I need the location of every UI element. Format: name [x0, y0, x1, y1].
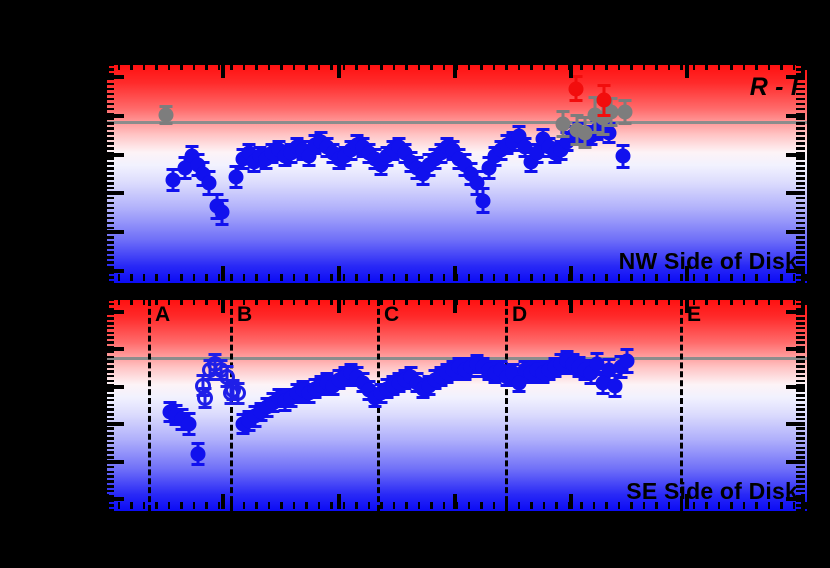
error-bar-cap	[513, 390, 526, 393]
panel-se-corner-label: SE Side of Disk	[626, 478, 798, 505]
error-bar-cap	[619, 99, 632, 102]
region-label-b: B	[237, 303, 252, 327]
error-bar-cap	[303, 401, 316, 404]
axis-label-r-minus-i: R - I	[750, 73, 798, 102]
error-bar-cap	[224, 402, 237, 405]
error-bar-cap	[549, 161, 562, 164]
error-bar-cap	[196, 161, 209, 164]
marker-filled-circle	[166, 172, 181, 187]
error-bar-cap	[339, 164, 352, 167]
error-bar-cap	[381, 396, 394, 399]
error-bar-cap	[308, 396, 321, 399]
marker-filled-circle	[475, 193, 490, 208]
error-bar-cap	[170, 404, 183, 407]
error-bar-cap	[369, 405, 382, 408]
error-bar-cap	[237, 432, 250, 435]
marker-filled-circle	[620, 353, 635, 368]
region-divider-a	[148, 300, 151, 511]
error-bar-cap	[605, 124, 618, 127]
marker-open-circle	[195, 378, 211, 394]
region-divider-d	[505, 300, 508, 511]
error-bar-cap	[458, 153, 471, 156]
error-bar-cap	[216, 223, 229, 226]
marker-filled-circle	[159, 108, 174, 123]
error-bar-cap	[458, 378, 471, 381]
error-bar-cap	[332, 387, 345, 390]
panel-nw-side: R - I NW Side of Disk	[105, 63, 809, 285]
error-bar-cap	[259, 167, 272, 170]
error-bar-cap	[434, 384, 447, 387]
error-bar-cap	[192, 153, 205, 156]
marker-filled-circle	[181, 417, 196, 432]
marker-filled-circle	[215, 205, 230, 220]
error-bar-cap	[381, 164, 394, 167]
error-bar-cap	[248, 425, 261, 428]
error-bar-cap	[615, 376, 628, 379]
error-bar-cap	[591, 352, 604, 355]
error-bar-cap	[196, 394, 209, 397]
error-bar-cap	[608, 395, 621, 398]
error-bar-cap	[423, 393, 436, 396]
error-bar-cap	[619, 122, 632, 125]
region-label-c: C	[384, 303, 399, 327]
error-bar-cap	[230, 186, 243, 189]
error-bar-cap	[429, 387, 442, 390]
error-bar-cap	[374, 401, 387, 404]
error-bar-cap	[570, 143, 583, 146]
error-bar-cap	[598, 84, 611, 87]
error-bar-cap	[216, 199, 229, 202]
region-divider-b	[230, 300, 233, 511]
error-bar-cap	[210, 193, 223, 196]
reference-line-nw	[107, 121, 807, 124]
error-bar-cap	[290, 401, 303, 404]
error-bar-cap	[182, 433, 195, 436]
error-bar-cap	[374, 173, 387, 176]
error-bar-cap	[429, 167, 442, 170]
error-bar-cap	[482, 177, 495, 180]
region-label-a: A	[155, 303, 170, 327]
panel-se-side: ABCDE SE Side of Disk	[105, 298, 809, 513]
error-bar-cap	[570, 75, 583, 78]
marker-filled-circle	[229, 169, 244, 184]
error-bar-cap	[621, 371, 634, 374]
error-bar-cap	[524, 170, 537, 173]
error-bar-cap	[621, 348, 634, 351]
error-bar-cap	[542, 378, 555, 381]
error-bar-cap	[465, 162, 478, 165]
error-bar-cap	[555, 158, 568, 161]
error-bar-cap	[476, 211, 489, 214]
error-bar-cap	[531, 161, 544, 164]
marker-filled-circle	[191, 447, 206, 462]
error-bar-cap	[597, 133, 610, 136]
region-label-d: D	[512, 303, 527, 327]
error-bar-cap	[279, 409, 292, 412]
marker-open-circle	[223, 385, 239, 401]
error-bar-cap	[285, 161, 298, 164]
error-bar-cap	[279, 164, 292, 167]
error-bar-cap	[616, 144, 629, 147]
marker-filled-circle	[597, 93, 612, 108]
error-bar-cap	[387, 393, 400, 396]
error-bar-cap	[192, 442, 205, 445]
error-bar-cap	[570, 99, 583, 102]
error-bar-cap	[243, 429, 256, 432]
panel-nw-corner-label: NW Side of Disk	[619, 248, 798, 275]
error-bar-cap	[598, 114, 611, 117]
error-bar-cap	[167, 189, 180, 192]
error-bar-cap	[202, 170, 215, 173]
error-bar-cap	[261, 415, 274, 418]
error-bar-cap	[495, 158, 508, 161]
marker-filled-circle	[618, 105, 633, 120]
error-bar-cap	[265, 161, 278, 164]
error-bar-cap	[434, 161, 447, 164]
error-bar-cap	[440, 381, 453, 384]
error-bar-cap	[556, 110, 569, 113]
error-bar-cap	[556, 135, 569, 138]
error-bar-cap	[255, 419, 268, 422]
error-bar-cap	[560, 149, 573, 152]
error-bar-cap	[416, 183, 429, 186]
region-label-e: E	[687, 303, 701, 327]
error-bar-cap	[248, 170, 261, 173]
error-bar-cap	[392, 390, 405, 393]
error-bar-cap	[489, 164, 502, 167]
marker-filled-circle	[615, 149, 630, 164]
error-bar-cap	[416, 396, 429, 399]
error-bar-cap	[332, 167, 345, 170]
error-bar-cap	[411, 156, 424, 159]
error-bar-cap	[537, 381, 550, 384]
marker-filled-circle	[569, 81, 584, 96]
figure-root: R - I NW Side of Disk ABCDE SE Side of D…	[0, 0, 830, 568]
error-bar-cap	[303, 164, 316, 167]
error-bar-cap	[192, 463, 205, 466]
error-bar-cap	[423, 174, 436, 177]
error-bar-cap	[616, 166, 629, 169]
error-bar-cap	[185, 145, 198, 148]
error-bar-cap	[327, 393, 340, 396]
error-bar-cap	[602, 358, 615, 361]
error-bar-cap	[182, 412, 195, 415]
error-bar-cap	[175, 408, 188, 411]
marker-filled-circle	[201, 175, 216, 190]
marker-filled-circle	[555, 116, 570, 131]
error-bar-cap	[345, 158, 358, 161]
marker-filled-circle	[607, 378, 622, 393]
error-bar-cap	[285, 405, 298, 408]
error-bar-cap	[602, 141, 615, 144]
error-bar-cap	[476, 187, 489, 190]
error-bar-cap	[199, 406, 212, 409]
error-bar-cap	[178, 177, 191, 180]
error-bar-cap	[579, 146, 592, 149]
error-bar-cap	[500, 152, 513, 155]
